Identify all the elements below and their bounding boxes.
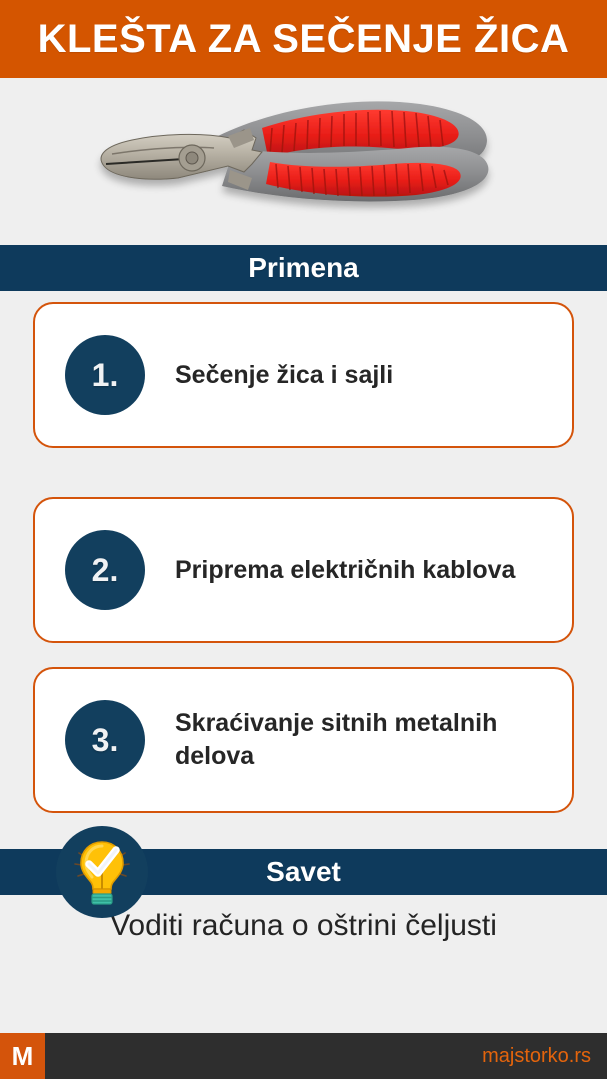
page-footer: M majstorko.rs xyxy=(0,1033,607,1079)
page-title: KLEŠTA ZA SEČENJE ŽICA xyxy=(38,19,570,59)
step-number-badge: 3. xyxy=(65,700,145,780)
step-number-badge: 2. xyxy=(65,530,145,610)
list-item-label: Skraćivanje sitnih metalnih delova xyxy=(175,707,552,773)
list-item[interactable]: 1. Sečenje žica i sajli xyxy=(33,302,574,448)
site-url-label[interactable]: majstorko.rs xyxy=(482,1046,591,1066)
brand-logo[interactable]: M xyxy=(0,1033,45,1079)
list-item-label: Sečenje žica i sajli xyxy=(175,359,393,392)
section-title-savet: Savet xyxy=(266,858,341,886)
hero-product-image xyxy=(0,78,607,245)
list-item[interactable]: 2. Priprema električnih kablova xyxy=(33,497,574,643)
list-item[interactable]: 3. Skraćivanje sitnih metalnih delova xyxy=(33,667,574,813)
section-banner-primena: Primena xyxy=(0,245,607,291)
list-item-label: Priprema električnih kablova xyxy=(175,554,515,587)
wire-cutting-pliers-illustration xyxy=(0,78,607,245)
lightbulb-check-glyph xyxy=(71,837,133,907)
step-number-badge: 1. xyxy=(65,335,145,415)
page-header: KLEŠTA ZA SEČENJE ŽICA xyxy=(0,0,607,78)
lightbulb-check-icon xyxy=(56,826,148,918)
infographic-page: KLEŠTA ZA SEČENJE ŽICA xyxy=(0,0,607,1079)
section-title-primena: Primena xyxy=(248,254,359,282)
